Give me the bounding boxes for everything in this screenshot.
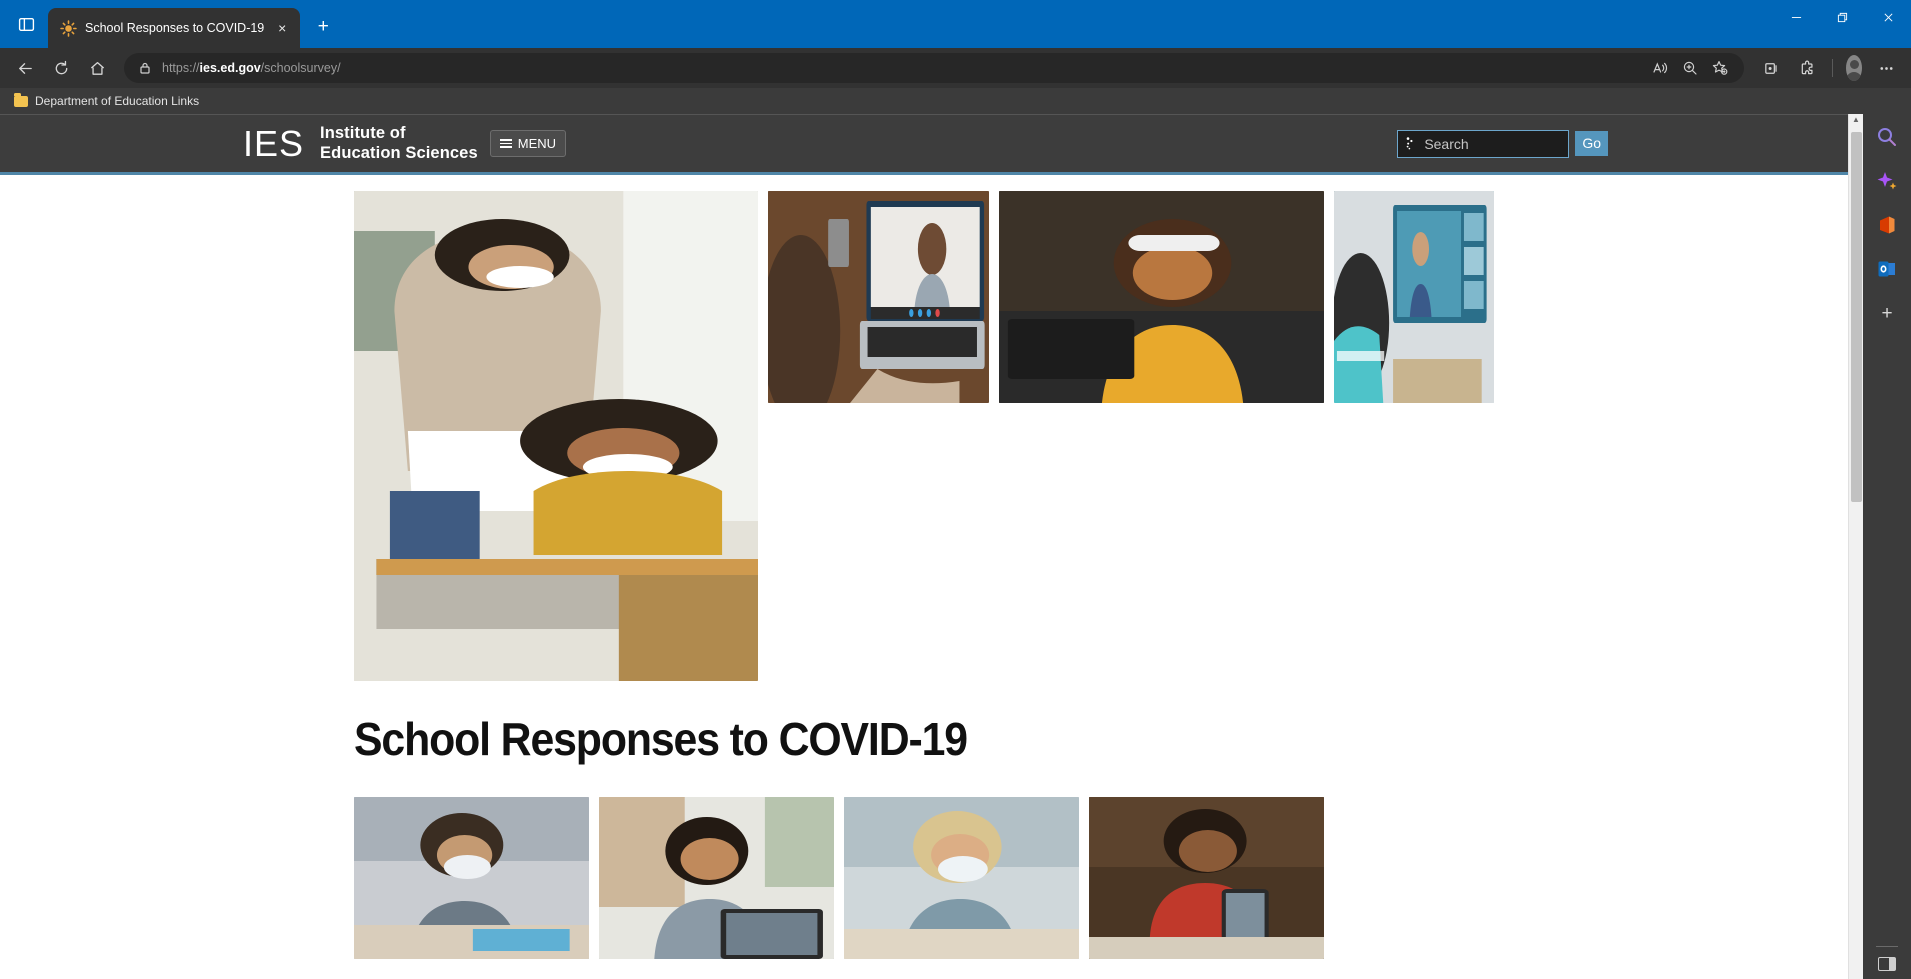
hamburger-icon bbox=[500, 139, 512, 148]
photo-teacher-helping-student bbox=[354, 191, 758, 681]
office-icon[interactable] bbox=[1876, 214, 1898, 236]
bookmark-department-of-education-links[interactable]: Department of Education Links bbox=[8, 92, 205, 110]
home-icon[interactable] bbox=[80, 53, 114, 83]
logo-line-2: Education Sciences bbox=[320, 144, 478, 162]
settings-ellipsis-icon[interactable] bbox=[1869, 53, 1903, 83]
browser-viewport: IES Institute of Education Sciences MENU… bbox=[0, 114, 1911, 979]
ies-logo-text: Institute of Education Sciences bbox=[320, 124, 478, 163]
header-accent-rule bbox=[0, 172, 1848, 175]
photo-girl-yellow-headphones bbox=[999, 191, 1324, 403]
close-icon[interactable]: × bbox=[272, 18, 292, 38]
sun-icon bbox=[60, 20, 77, 37]
hero-collage: School Responses to COVID-19 bbox=[354, 191, 1494, 959]
add-favorite-icon[interactable] bbox=[1706, 55, 1734, 81]
toolbar-right-actions bbox=[1754, 53, 1903, 83]
menu-label: MENU bbox=[518, 136, 556, 151]
site-search: Search Go bbox=[1397, 130, 1848, 158]
refresh-icon[interactable] bbox=[44, 53, 78, 83]
collage-bottom-row bbox=[354, 797, 1324, 959]
tab-title: School Responses to COVID-19 bbox=[85, 21, 264, 35]
tab-actions-icon[interactable] bbox=[4, 4, 48, 44]
toggle-sidebar-icon[interactable] bbox=[1878, 957, 1896, 971]
bookmark-label: Department of Education Links bbox=[35, 94, 199, 108]
scrollbar-thumb[interactable] bbox=[1851, 132, 1862, 502]
photo-boy-mask-desk bbox=[354, 797, 589, 959]
close-window-icon[interactable] bbox=[1865, 0, 1911, 34]
new-tab-button[interactable]: + bbox=[306, 10, 340, 44]
lock-icon bbox=[138, 61, 152, 75]
photo-boy-smartphone bbox=[1089, 797, 1324, 959]
sidebar-divider bbox=[1876, 946, 1898, 947]
bookmarks-bar: Department of Education Links bbox=[0, 88, 1911, 114]
toolbar-divider bbox=[1832, 59, 1833, 77]
photo-girl-mask-classroom bbox=[844, 797, 1079, 959]
sparkle-icon[interactable] bbox=[1876, 170, 1898, 192]
photo-girl-tablet bbox=[599, 797, 834, 959]
browser-tab[interactable]: School Responses to COVID-19 × bbox=[48, 8, 300, 48]
collections-icon[interactable] bbox=[1754, 53, 1788, 83]
back-arrow-icon[interactable] bbox=[8, 53, 42, 83]
page-content: School Responses to COVID-19 bbox=[0, 191, 1848, 979]
scroll-up-arrow-icon[interactable]: ▲ bbox=[1852, 116, 1860, 124]
search-icon[interactable] bbox=[1876, 126, 1898, 148]
ies-logo-mark: IES bbox=[243, 126, 304, 162]
zoom-icon[interactable] bbox=[1676, 55, 1704, 81]
photo-student-video-call bbox=[768, 191, 989, 403]
search-go-button[interactable]: Go bbox=[1575, 131, 1608, 156]
browser-titlebar: School Responses to COVID-19 × + bbox=[0, 0, 1911, 48]
web-page: IES Institute of Education Sciences MENU… bbox=[0, 114, 1848, 979]
search-placeholder: Search bbox=[1424, 136, 1468, 152]
banner-title-row: School Responses to COVID-19 bbox=[354, 691, 1324, 787]
url-text: https://ies.ed.gov/schoolsurvey/ bbox=[162, 61, 341, 75]
tab-strip: School Responses to COVID-19 × + bbox=[0, 0, 340, 48]
page-title: School Responses to COVID-19 bbox=[354, 712, 967, 766]
logo-line-1: Institute of bbox=[320, 124, 406, 142]
menu-button[interactable]: MENU bbox=[490, 130, 566, 157]
restore-icon[interactable] bbox=[1819, 0, 1865, 34]
plus-icon[interactable]: + bbox=[1876, 302, 1898, 324]
sidebar-bottom bbox=[1876, 946, 1898, 979]
profile-avatar[interactable] bbox=[1841, 55, 1867, 81]
omnibox-actions bbox=[1646, 55, 1734, 81]
folder-icon bbox=[14, 96, 28, 107]
search-input[interactable]: Search bbox=[1397, 130, 1569, 158]
page-scrollbar[interactable]: ▲ bbox=[1848, 114, 1863, 979]
read-aloud-icon[interactable] bbox=[1646, 55, 1674, 81]
address-bar[interactable]: https://ies.ed.gov/schoolsurvey/ bbox=[124, 53, 1744, 83]
site-header: IES Institute of Education Sciences MENU… bbox=[0, 114, 1848, 172]
browser-toolbar: https://ies.ed.gov/schoolsurvey/ bbox=[0, 48, 1911, 88]
minimize-icon[interactable] bbox=[1773, 0, 1819, 34]
outlook-icon[interactable] bbox=[1876, 258, 1898, 280]
search-cursor-icon bbox=[1406, 137, 1417, 150]
edge-sidebar: + bbox=[1863, 114, 1911, 979]
extensions-icon[interactable] bbox=[1790, 53, 1824, 83]
photo-boy-headset-class bbox=[1334, 191, 1494, 403]
window-controls bbox=[1773, 0, 1911, 34]
